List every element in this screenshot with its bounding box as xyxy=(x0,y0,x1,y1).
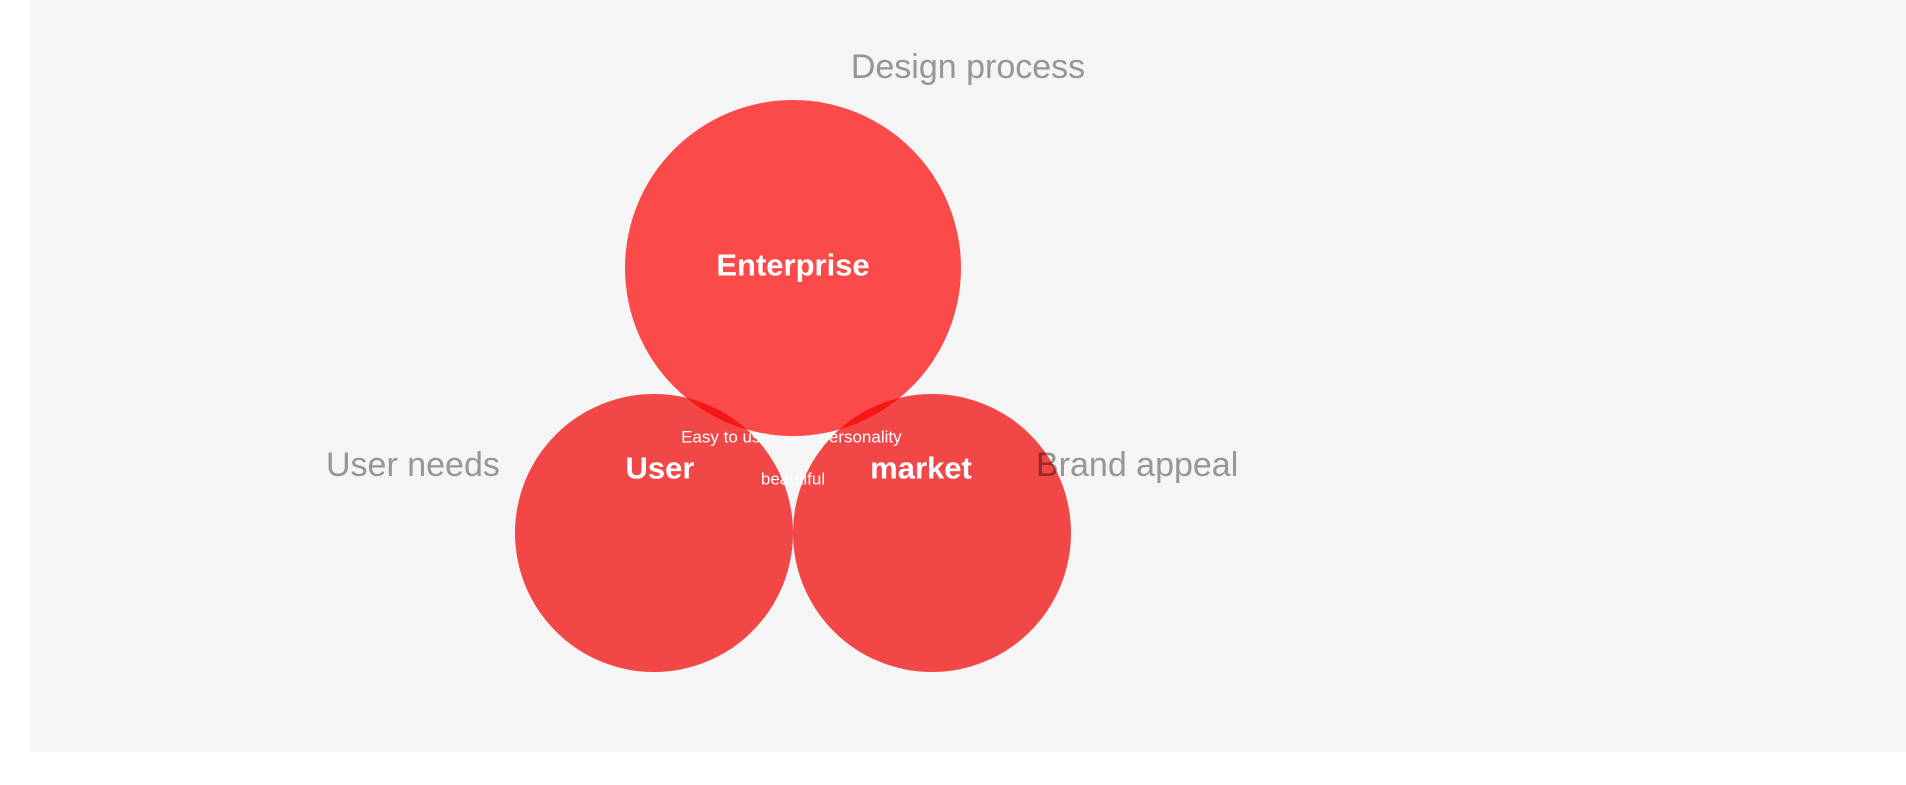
diagram-canvas: Design process User needs Brand appeal E… xyxy=(30,0,1906,752)
venn-label-enterprise[interactable]: Enterprise xyxy=(716,250,869,281)
venn-label-market[interactable]: market xyxy=(870,453,972,484)
venn-svg xyxy=(30,0,1906,752)
venn-stage: Enterprise User market Easy to use perso… xyxy=(30,0,1906,752)
venn-label-user[interactable]: User xyxy=(626,453,695,484)
venn-diagram-app: Design process User needs Brand appeal E… xyxy=(0,0,1906,785)
venn-label-easy-to-use[interactable]: Easy to use xyxy=(681,428,770,445)
venn-label-beautiful[interactable]: beautiful xyxy=(761,471,825,488)
venn-label-personality[interactable]: personality xyxy=(819,428,901,445)
